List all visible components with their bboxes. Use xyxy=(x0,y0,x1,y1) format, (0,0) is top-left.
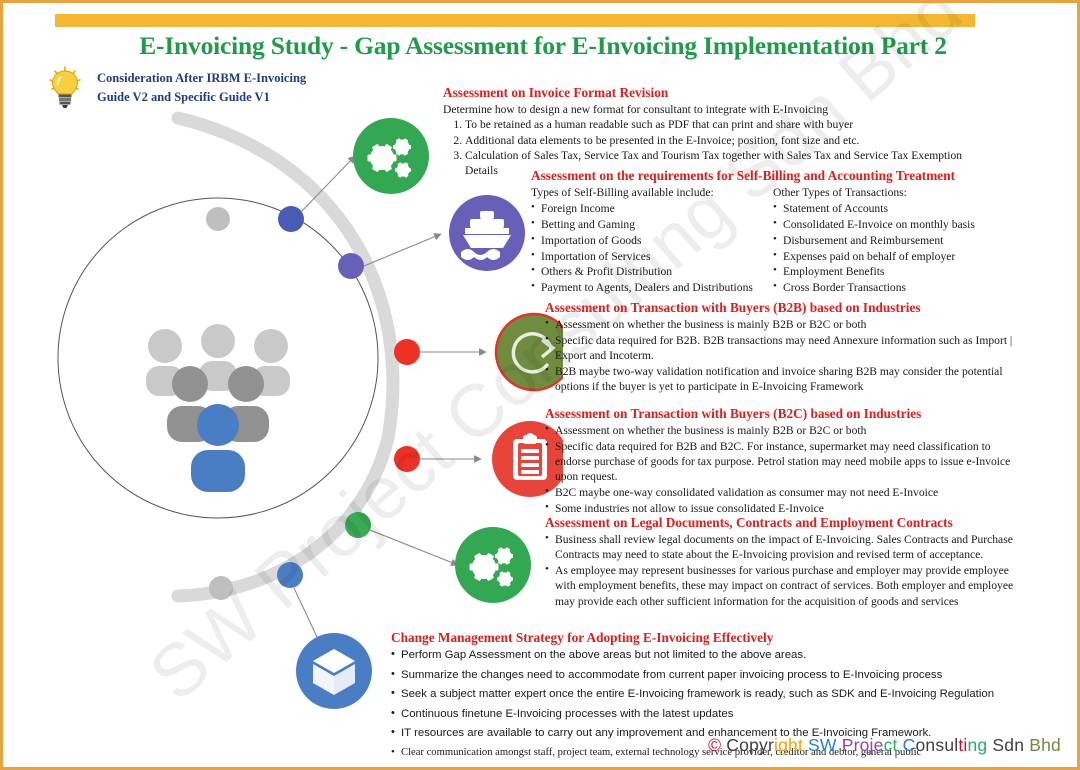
list-item: Importation of Services xyxy=(531,249,759,264)
list-item: Importation of Goods xyxy=(531,233,759,248)
copyright-symbol: © xyxy=(708,735,726,755)
list-item: Statement of Accounts xyxy=(773,201,1001,216)
list-item: Specific data required for B2B. B2B tran… xyxy=(545,333,1025,364)
list-item: Continuous finetune E-Invoicing processe… xyxy=(391,706,1026,723)
copyright-part-10: Bhd xyxy=(1029,735,1061,755)
section-legal-documents: Assessment on Legal Documents, Contracts… xyxy=(545,515,1025,609)
other-transactions-column: Other Types of Transactions: Statement o… xyxy=(773,185,1001,296)
column-heading: Types of Self-Billing available include: xyxy=(531,185,759,200)
copyright-footer: © Copyright SW Project Consulting Sdn Bh… xyxy=(708,735,1061,756)
people-group-icon xyxy=(146,324,290,492)
list-item: Summarize the changes need to accommodat… xyxy=(391,667,1026,684)
node-gears-icon-circle xyxy=(353,118,429,194)
list-item: Others & Profit Distribution xyxy=(531,264,759,279)
section-b2b-industries: Assessment on Transaction with Buyers (B… xyxy=(545,300,1025,395)
self-billing-column: Types of Self-Billing available include:… xyxy=(531,185,759,296)
node-dot-3 xyxy=(394,339,420,365)
section-heading: Assessment on Legal Documents, Contracts… xyxy=(545,515,1025,531)
node-dot-1 xyxy=(278,206,304,232)
copyright-part-7: ti xyxy=(958,735,967,755)
section-intro: Determine how to design a new format for… xyxy=(443,102,963,117)
section-self-billing-accounting: Assessment on the requirements for Self-… xyxy=(531,168,1001,296)
list-item: B2C maybe one-way consolidated validatio… xyxy=(545,485,1025,500)
copyright-part-5: C xyxy=(903,735,916,755)
list-item: Assessment on whether the business is ma… xyxy=(545,423,1025,438)
list-item: Cross Border Transactions xyxy=(773,280,1001,295)
copyright-part-9: Sdn xyxy=(987,735,1029,755)
list-item: Perform Gap Assessment on the above area… xyxy=(391,647,1026,664)
list-item: Assessment on whether the business is ma… xyxy=(545,317,1025,332)
list-item: Consolidated E-Invoice on monthly basis xyxy=(773,217,1001,232)
node-dot-5 xyxy=(345,512,371,538)
list-item: As employee may represent businesses for… xyxy=(545,563,1025,609)
copyright-part-2: SW xyxy=(803,735,842,755)
top-accent-bar xyxy=(55,14,975,27)
arc-end-dot-bottom xyxy=(209,576,233,600)
b2b-list: Assessment on whether the business is ma… xyxy=(545,317,1025,394)
node-dot-4 xyxy=(394,446,420,472)
node-dot-2 xyxy=(338,253,364,279)
list-item: Some industries not allow to issue conso… xyxy=(545,501,1025,516)
legal-list: Business shall review legal documents on… xyxy=(545,532,1025,609)
section-b2c-industries: Assessment on Transaction with Buyers (B… xyxy=(545,406,1025,517)
node-dot-6 xyxy=(277,562,303,588)
list-item: Betting and Gaming xyxy=(531,217,759,232)
node-cube-icon-circle xyxy=(296,633,372,709)
list-item: B2B maybe two-way validation notificatio… xyxy=(545,364,1025,395)
copyright-part-3: Proje xyxy=(842,735,884,755)
section-heading: Assessment on Transaction with Buyers (B… xyxy=(545,406,1025,422)
copyright-part-6: onsul xyxy=(916,735,959,755)
section-heading: Assessment on Invoice Format Revision xyxy=(443,85,963,101)
list-item: Payment to Agents, Dealers and Distribut… xyxy=(531,280,759,295)
self-billing-list: Foreign Income Betting and Gaming Import… xyxy=(531,201,759,295)
node-ship-icon-circle xyxy=(449,195,525,271)
arc-end-dot-top xyxy=(206,207,230,231)
infographic-page: E-Invoicing Study - Gap Assessment for E… xyxy=(0,0,1080,770)
list-item: Expenses paid on behalf of employer xyxy=(773,249,1001,264)
b2c-list: Assessment on whether the business is ma… xyxy=(545,423,1025,516)
list-item: Additional data elements to be presented… xyxy=(465,133,963,148)
list-item: Seek a subject matter expert once the en… xyxy=(391,686,1026,703)
list-item: To be retained as a human readable such … xyxy=(465,117,963,132)
other-transactions-list: Statement of Accounts Consolidated E-Inv… xyxy=(773,201,1001,295)
list-item: Employment Benefits xyxy=(773,264,1001,279)
section-heading: Assessment on the requirements for Self-… xyxy=(531,168,1001,184)
copyright-part-8: ng xyxy=(968,735,988,755)
copyright-part-0: Copyr xyxy=(726,735,774,755)
page-title: E-Invoicing Study - Gap Assessment for E… xyxy=(3,31,1080,61)
list-item: Business shall review legal documents on… xyxy=(545,532,1025,563)
copyright-part-4: ct xyxy=(884,735,903,755)
copyright-part-1: ight xyxy=(774,735,803,755)
section-invoice-format-revision: Assessment on Invoice Format Revision De… xyxy=(443,85,963,178)
column-heading: Other Types of Transactions: xyxy=(773,185,1001,200)
node-gears2-icon-circle xyxy=(455,527,531,603)
section-heading: Change Management Strategy for Adopting … xyxy=(391,630,1026,646)
list-item: Specific data required for B2B and B2C. … xyxy=(545,439,1025,485)
subtitle-line-1: Consideration After IRBM E-Invoicing xyxy=(97,69,357,88)
list-item: Disbursement and Reimbursement xyxy=(773,233,1001,248)
list-item: Foreign Income xyxy=(531,201,759,216)
section-heading: Assessment on Transaction with Buyers (B… xyxy=(545,300,1025,316)
